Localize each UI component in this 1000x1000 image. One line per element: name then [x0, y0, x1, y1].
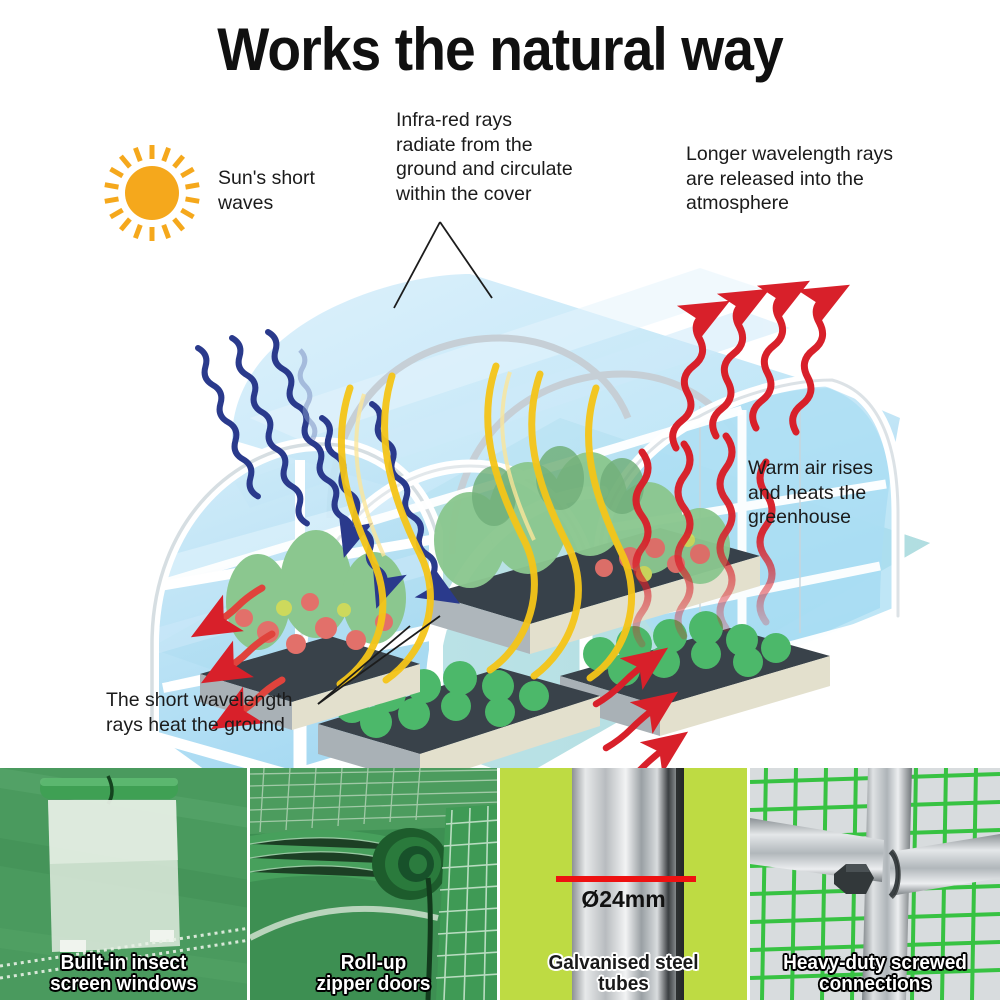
- infographic-page: Works the natural way: [0, 0, 1000, 1000]
- diameter-rule: [556, 876, 696, 882]
- feature-caption: Galvanised steel tubes: [506, 953, 741, 996]
- annotation-warm-air-rises: Warm air rises and heats the greenhouse: [748, 456, 873, 530]
- sun-icon: [105, 145, 199, 241]
- annotation-sun-short-waves: Sun's short waves: [218, 166, 315, 215]
- feature-caption: Heavy-duty screwed connections: [756, 953, 994, 996]
- annotation-infrared-rays: Infra-red rays radiate from the ground a…: [396, 108, 573, 206]
- annotation-longer-wavelength-rays: Longer wavelength rays are released into…: [686, 142, 893, 216]
- feature-panel-zipper-doors: Roll-up zipper doors: [250, 768, 500, 1000]
- feature-panel-screwed-connections: Heavy-duty screwed connections: [750, 768, 1000, 1000]
- feature-panel-steel-tubes: Ø24mm Galvanised steel tubes: [500, 768, 750, 1000]
- feature-panel-insect-screen: Built-in insect screen windows: [0, 768, 250, 1000]
- feature-photo-strip: Built-in insect screen windows: [0, 768, 1000, 1000]
- feature-caption: Roll-up zipper doors: [256, 953, 491, 996]
- annotation-short-wavelength-rays: The short wavelength rays heat the groun…: [106, 688, 292, 737]
- diameter-label: Ø24mm: [500, 886, 747, 913]
- page-title: Works the natural way: [40, 18, 960, 81]
- feature-caption: Built-in insect screen windows: [6, 953, 241, 996]
